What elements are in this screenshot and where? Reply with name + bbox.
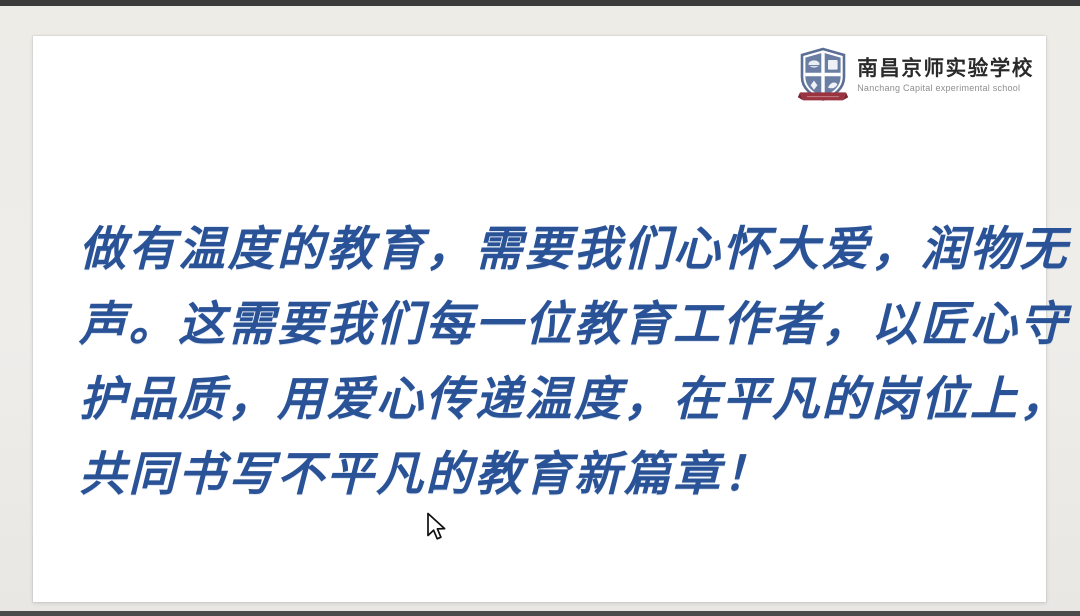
mouse-pointer-arrow-icon — [426, 512, 448, 544]
school-logo-text: 南昌京师实验学校 Nanchang Capital experimental s… — [857, 59, 1034, 93]
slide-body-text: 做有温度的教育，需要我们心怀大爱，润物无 声。这需要我们每一位教育工作者，以匠心… — [79, 212, 1009, 512]
school-name-chinese: 南昌京师实验学校 — [857, 59, 1034, 80]
school-name-english: Nanchang Capital experimental school — [857, 84, 1034, 93]
school-logo: 南昌京师实验学校 Nanchang Capital experimental s… — [797, 47, 1034, 105]
window-bottom-bar — [0, 611, 1080, 616]
slide-canvas[interactable]: 南昌京师实验学校 Nanchang Capital experimental s… — [33, 36, 1046, 602]
presentation-backdrop: 南昌京师实验学校 Nanchang Capital experimental s… — [0, 6, 1080, 611]
school-crest-shield-icon — [797, 47, 849, 105]
body-text-line: 声。这需要我们每一位教育工作者，以匠心守 — [79, 287, 1009, 362]
body-text-line: 共同书写不平凡的教育新篇章！ — [79, 437, 1009, 512]
body-text-line: 护品质，用爱心传递温度，在平凡的岗位上， — [79, 362, 1009, 437]
body-text-line: 做有温度的教育，需要我们心怀大爱，润物无 — [79, 212, 1009, 287]
